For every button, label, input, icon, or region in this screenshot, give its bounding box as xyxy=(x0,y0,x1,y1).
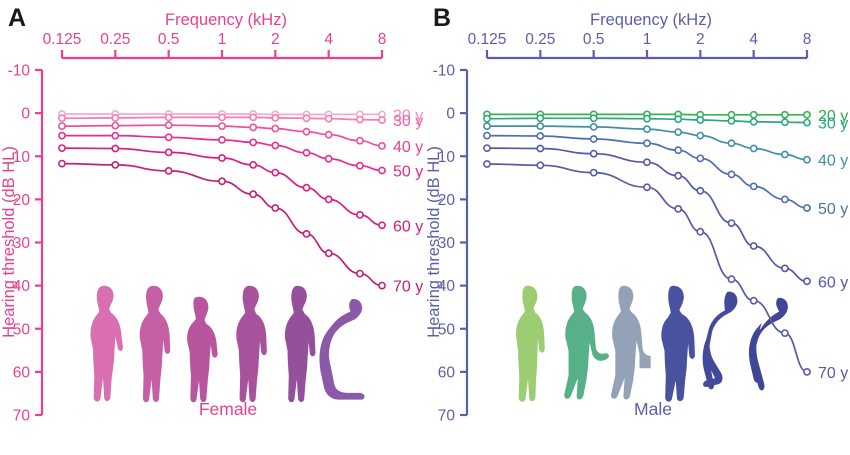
x-tick-label: 0.25 xyxy=(100,31,130,48)
data-point-marker xyxy=(326,132,332,138)
data-point-marker xyxy=(219,137,225,143)
data-point-marker xyxy=(537,145,543,151)
data-point-marker xyxy=(675,129,681,135)
sex-label: Male xyxy=(634,399,672,419)
data-point-marker xyxy=(644,116,650,122)
data-point-marker xyxy=(250,124,256,130)
data-point-marker xyxy=(697,229,703,235)
data-point-marker xyxy=(326,116,332,122)
data-point-marker xyxy=(751,112,757,118)
data-point-marker xyxy=(326,250,332,256)
age-silhouette-group xyxy=(516,286,788,402)
silhouette-40y xyxy=(187,297,217,402)
data-point-marker xyxy=(326,196,332,202)
data-point-marker xyxy=(357,117,363,123)
data-point-marker xyxy=(804,278,810,284)
data-point-marker xyxy=(728,112,734,118)
data-point-marker xyxy=(250,139,256,145)
silhouette-50y xyxy=(661,286,695,402)
data-point-marker xyxy=(675,206,681,212)
data-point-marker xyxy=(379,283,385,289)
y-tick-label: 60 xyxy=(438,364,456,381)
data-point-marker xyxy=(591,124,597,130)
silhouette-60y xyxy=(285,286,316,403)
silhouette-70y xyxy=(319,299,364,400)
x-tick-label: 0.5 xyxy=(158,31,180,48)
series-label: 60 y xyxy=(818,274,848,291)
data-point-marker xyxy=(272,170,278,176)
data-point-marker xyxy=(166,168,172,174)
x-tick-label: 8 xyxy=(378,31,387,48)
x-axis-title: Frequency (kHz) xyxy=(590,11,712,29)
data-point-marker xyxy=(644,159,650,165)
y-axis-title: Hearing threshold (dB HL) xyxy=(425,146,443,338)
y-tick-label: 60 xyxy=(13,364,31,381)
data-point-marker xyxy=(782,196,788,202)
data-point-marker xyxy=(751,119,757,125)
data-point-marker xyxy=(357,271,363,277)
data-point-marker xyxy=(484,116,490,122)
data-point-marker xyxy=(112,115,118,121)
data-point-marker xyxy=(751,298,757,304)
data-point-marker xyxy=(272,126,278,132)
data-point-marker xyxy=(804,157,810,163)
silhouette-shape xyxy=(703,292,738,390)
y-tick-label: 70 xyxy=(438,408,456,425)
silhouette-70y xyxy=(749,298,788,391)
panel-letter-b: B xyxy=(433,4,451,33)
data-point-marker xyxy=(272,205,278,211)
data-point-marker xyxy=(326,156,332,162)
silhouette-shape xyxy=(749,298,788,391)
data-point-marker xyxy=(303,150,309,156)
data-point-marker xyxy=(484,123,490,129)
data-point-marker xyxy=(357,163,363,169)
data-point-marker xyxy=(728,171,734,177)
data-point-marker xyxy=(484,161,490,167)
series-label: 70 y xyxy=(393,279,423,296)
data-point-marker xyxy=(675,173,681,179)
x-axis-title: Frequency (kHz) xyxy=(165,11,287,29)
y-tick-label: 0 xyxy=(446,106,455,123)
sex-label: Female xyxy=(199,399,257,419)
data-point-marker xyxy=(591,170,597,176)
panel-b-male: B 0.1250.250.51248Frequency (kHz)-100102… xyxy=(425,0,850,455)
data-point-marker xyxy=(166,149,172,155)
data-point-marker xyxy=(219,178,225,184)
data-point-marker xyxy=(219,123,225,129)
y-tick-label: -10 xyxy=(8,63,31,80)
data-point-marker xyxy=(59,145,65,151)
data-point-marker xyxy=(591,136,597,142)
series-label: 70 y xyxy=(818,365,848,382)
data-point-marker xyxy=(166,114,172,120)
data-point-marker xyxy=(804,205,810,211)
data-point-marker xyxy=(537,115,543,121)
x-tick-label: 2 xyxy=(696,31,705,48)
series-label: 40 y xyxy=(818,153,848,170)
panel-a-female: A 0.1250.250.51248Frequency (kHz)-100102… xyxy=(0,0,425,455)
y-tick-label: 70 xyxy=(13,408,31,425)
series-label: 30 y xyxy=(818,116,848,133)
x-tick-label: 2 xyxy=(271,31,280,48)
series-label: 30 y xyxy=(393,113,423,130)
silhouette-shape xyxy=(319,299,364,400)
data-point-marker xyxy=(250,114,256,120)
silhouette-shape xyxy=(516,286,545,402)
x-tick-label: 0.5 xyxy=(583,31,605,48)
data-point-marker xyxy=(782,151,788,157)
data-point-marker xyxy=(303,115,309,121)
y-tick-label: 0 xyxy=(21,106,30,123)
series-label: 40 y xyxy=(393,139,423,156)
chart-female: 0.1250.250.51248Frequency (kHz)-10010203… xyxy=(0,0,425,455)
data-point-marker xyxy=(728,276,734,282)
data-point-marker xyxy=(484,145,490,151)
data-point-marker xyxy=(112,123,118,129)
data-point-marker xyxy=(782,265,788,271)
silhouette-shape xyxy=(564,286,609,400)
series-label: 60 y xyxy=(393,218,423,235)
data-point-marker xyxy=(357,212,363,218)
series-line xyxy=(487,148,807,281)
data-point-marker xyxy=(272,142,278,148)
data-point-marker xyxy=(697,133,703,139)
data-point-marker xyxy=(537,133,543,139)
x-tick-label: 4 xyxy=(749,31,758,48)
x-tick-label: 8 xyxy=(803,31,812,48)
data-point-marker xyxy=(272,115,278,121)
series-70y: 70 y xyxy=(59,161,423,296)
series-label: 50 y xyxy=(393,163,423,180)
data-point-marker xyxy=(591,151,597,157)
data-point-marker xyxy=(59,115,65,121)
silhouette-60y xyxy=(703,292,738,390)
y-axis-title: Hearing threshold (dB HL) xyxy=(0,146,18,338)
silhouette-shape xyxy=(140,286,171,403)
data-point-marker xyxy=(379,222,385,228)
data-point-marker xyxy=(751,243,757,249)
x-tick-label: 1 xyxy=(218,31,227,48)
data-point-marker xyxy=(112,133,118,139)
y-tick-label: -10 xyxy=(433,63,456,80)
x-tick-label: 0.25 xyxy=(525,31,555,48)
data-point-marker xyxy=(804,369,810,375)
x-tick-label: 0.125 xyxy=(43,31,82,48)
silhouette-shape xyxy=(187,297,217,402)
data-point-marker xyxy=(697,155,703,161)
data-point-marker xyxy=(644,140,650,146)
silhouette-40y xyxy=(611,286,651,400)
data-point-marker xyxy=(219,155,225,161)
data-point-marker xyxy=(697,188,703,194)
data-point-marker xyxy=(804,112,810,118)
data-point-marker xyxy=(112,145,118,151)
data-point-marker xyxy=(379,167,385,173)
data-point-marker xyxy=(675,147,681,153)
data-point-marker xyxy=(379,117,385,123)
data-point-marker xyxy=(728,220,734,226)
silhouette-shape xyxy=(285,286,316,403)
data-point-marker xyxy=(782,119,788,125)
figure-container: A 0.1250.250.51248Frequency (kHz)-100102… xyxy=(0,0,850,455)
data-point-marker xyxy=(804,120,810,126)
silhouette-30y xyxy=(140,286,171,403)
data-point-marker xyxy=(219,114,225,120)
data-point-marker xyxy=(751,183,757,189)
data-point-marker xyxy=(728,118,734,124)
data-point-marker xyxy=(728,140,734,146)
series-50y: 50 y xyxy=(59,133,423,181)
data-point-marker xyxy=(166,122,172,128)
chart-male: 0.1250.250.51248Frequency (kHz)-10010203… xyxy=(425,0,850,455)
data-point-marker xyxy=(537,123,543,129)
data-point-marker xyxy=(59,123,65,129)
data-point-marker xyxy=(751,145,757,151)
data-point-marker xyxy=(484,133,490,139)
silhouette-30y xyxy=(564,286,609,400)
data-point-marker xyxy=(303,129,309,135)
x-tick-label: 4 xyxy=(324,31,333,48)
silhouette-shape xyxy=(90,286,122,402)
data-point-marker xyxy=(591,115,597,121)
data-point-marker xyxy=(782,330,788,336)
data-point-marker xyxy=(303,231,309,237)
silhouette-50y xyxy=(236,286,267,403)
data-point-marker xyxy=(59,161,65,167)
panel-letter-a: A xyxy=(8,4,26,33)
x-tick-label: 1 xyxy=(643,31,652,48)
age-silhouette-group xyxy=(90,286,364,403)
data-point-marker xyxy=(782,112,788,118)
data-point-marker xyxy=(697,117,703,123)
data-series-group: 20 y30 y40 y50 y60 y70 y xyxy=(59,107,423,295)
data-point-marker xyxy=(250,191,256,197)
data-point-marker xyxy=(644,126,650,132)
silhouette-shape xyxy=(236,286,267,403)
data-point-marker xyxy=(675,116,681,122)
data-point-marker xyxy=(537,162,543,168)
silhouette-shape xyxy=(611,286,651,400)
x-tick-label: 0.125 xyxy=(468,31,507,48)
silhouette-shape xyxy=(661,286,695,402)
silhouette-20y xyxy=(516,286,545,402)
data-point-marker xyxy=(59,133,65,139)
data-point-marker xyxy=(379,143,385,149)
silhouette-20y xyxy=(90,286,122,402)
data-point-marker xyxy=(303,185,309,191)
data-point-marker xyxy=(644,184,650,190)
series-label: 50 y xyxy=(818,201,848,218)
data-point-marker xyxy=(250,162,256,168)
data-point-marker xyxy=(357,138,363,144)
data-point-marker xyxy=(166,134,172,140)
data-point-marker xyxy=(112,162,118,168)
